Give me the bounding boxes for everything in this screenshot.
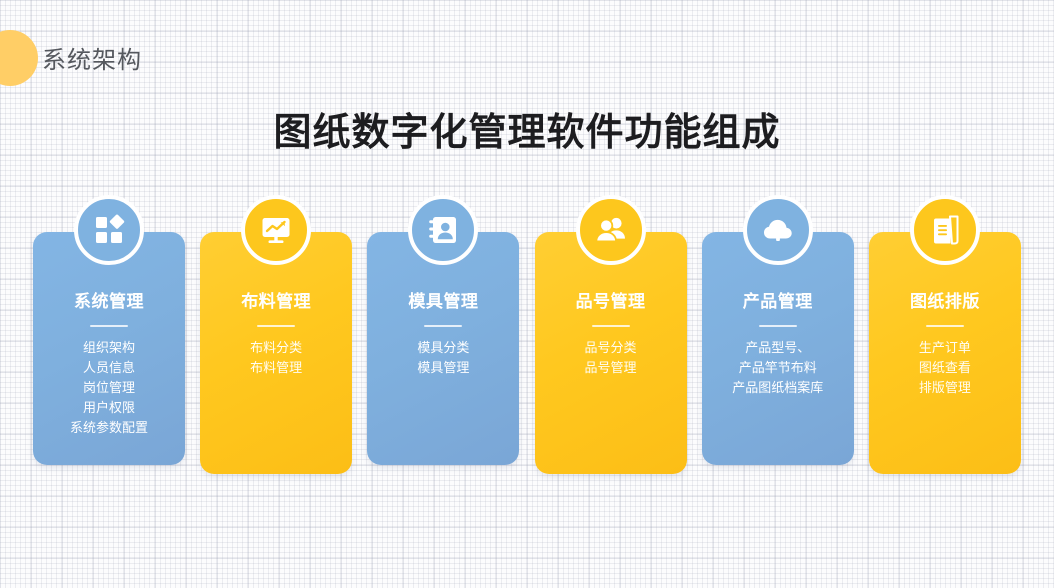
feature-card-item-list: 产品型号、产品竿节布料产品图纸档案库 <box>710 339 846 399</box>
feature-card-item: 品号管理 <box>543 359 679 379</box>
feature-card-item: 布料分类 <box>208 339 344 359</box>
feature-card-item: 产品竿节布料 <box>710 359 846 379</box>
feature-card-body[interactable]: 布料管理布料分类布料管理 <box>200 232 352 474</box>
feature-card-item-list: 布料分类布料管理 <box>208 339 344 379</box>
feature-card-title: 模具管理 <box>375 292 511 312</box>
feature-card-row: 系统管理组织架构人员信息岗位管理用户权限系统参数配置 布料管理布料分类布料管理 … <box>33 195 1021 485</box>
title-divider <box>257 325 295 327</box>
feature-card-item: 系统参数配置 <box>41 419 177 439</box>
feature-card-item: 产品图纸档案库 <box>710 379 846 399</box>
document-icon <box>910 195 980 265</box>
feature-card-item: 人员信息 <box>41 359 177 379</box>
feature-card-body[interactable]: 产品管理产品型号、产品竿节布料产品图纸档案库 <box>702 232 854 465</box>
feature-card-item-list: 品号分类品号管理 <box>543 339 679 379</box>
feature-card[interactable]: 品号管理品号分类品号管理 <box>535 195 687 485</box>
feature-card-item: 模具管理 <box>375 359 511 379</box>
grid-squares-icon <box>74 195 144 265</box>
feature-card[interactable]: 产品管理产品型号、产品竿节布料产品图纸档案库 <box>702 195 854 485</box>
feature-card-title: 图纸排版 <box>877 292 1013 312</box>
feature-card-item: 布料管理 <box>208 359 344 379</box>
feature-card-item-list: 生产订单图纸查看排版管理 <box>877 339 1013 399</box>
feature-card-item: 产品型号、 <box>710 339 846 359</box>
feature-card[interactable]: 模具管理模具分类模具管理 <box>367 195 519 485</box>
feature-card-body[interactable]: 系统管理组织架构人员信息岗位管理用户权限系统参数配置 <box>33 232 185 465</box>
title-divider <box>592 325 630 327</box>
slide-canvas: 系统架构 图纸数字化管理软件功能组成 系统管理组织架构人员信息岗位管理用户权限系… <box>0 0 1054 588</box>
feature-card-title: 系统管理 <box>41 292 177 312</box>
section-kicker: 系统架构 <box>42 40 142 75</box>
feature-card-title: 品号管理 <box>543 292 679 312</box>
users-icon <box>576 195 646 265</box>
feature-card-body[interactable]: 图纸排版生产订单图纸查看排版管理 <box>869 232 1021 474</box>
feature-card-title: 布料管理 <box>208 292 344 312</box>
feature-card[interactable]: 图纸排版生产订单图纸查看排版管理 <box>869 195 1021 485</box>
feature-card-item: 组织架构 <box>41 339 177 359</box>
feature-card-item: 模具分类 <box>375 339 511 359</box>
cloud-upload-icon <box>743 195 813 265</box>
title-divider <box>90 325 128 327</box>
feature-card-item: 用户权限 <box>41 399 177 419</box>
feature-card-item: 品号分类 <box>543 339 679 359</box>
feature-card-item: 生产订单 <box>877 339 1013 359</box>
monitor-chart-icon <box>241 195 311 265</box>
feature-card-item: 岗位管理 <box>41 379 177 399</box>
feature-card-item: 排版管理 <box>877 379 1013 399</box>
feature-card[interactable]: 布料管理布料分类布料管理 <box>200 195 352 485</box>
title-divider <box>424 325 462 327</box>
title-divider <box>926 325 964 327</box>
feature-card-body[interactable]: 模具管理模具分类模具管理 <box>367 232 519 465</box>
feature-card-body[interactable]: 品号管理品号分类品号管理 <box>535 232 687 474</box>
decorative-circle <box>0 30 38 86</box>
feature-card-title: 产品管理 <box>710 292 846 312</box>
title-divider <box>759 325 797 327</box>
feature-card-item-list: 模具分类模具管理 <box>375 339 511 379</box>
feature-card-item: 图纸查看 <box>877 359 1013 379</box>
feature-card[interactable]: 系统管理组织架构人员信息岗位管理用户权限系统参数配置 <box>33 195 185 485</box>
feature-card-item-list: 组织架构人员信息岗位管理用户权限系统参数配置 <box>41 339 177 439</box>
contact-card-icon <box>408 195 478 265</box>
page-title: 图纸数字化管理软件功能组成 <box>0 101 1054 156</box>
